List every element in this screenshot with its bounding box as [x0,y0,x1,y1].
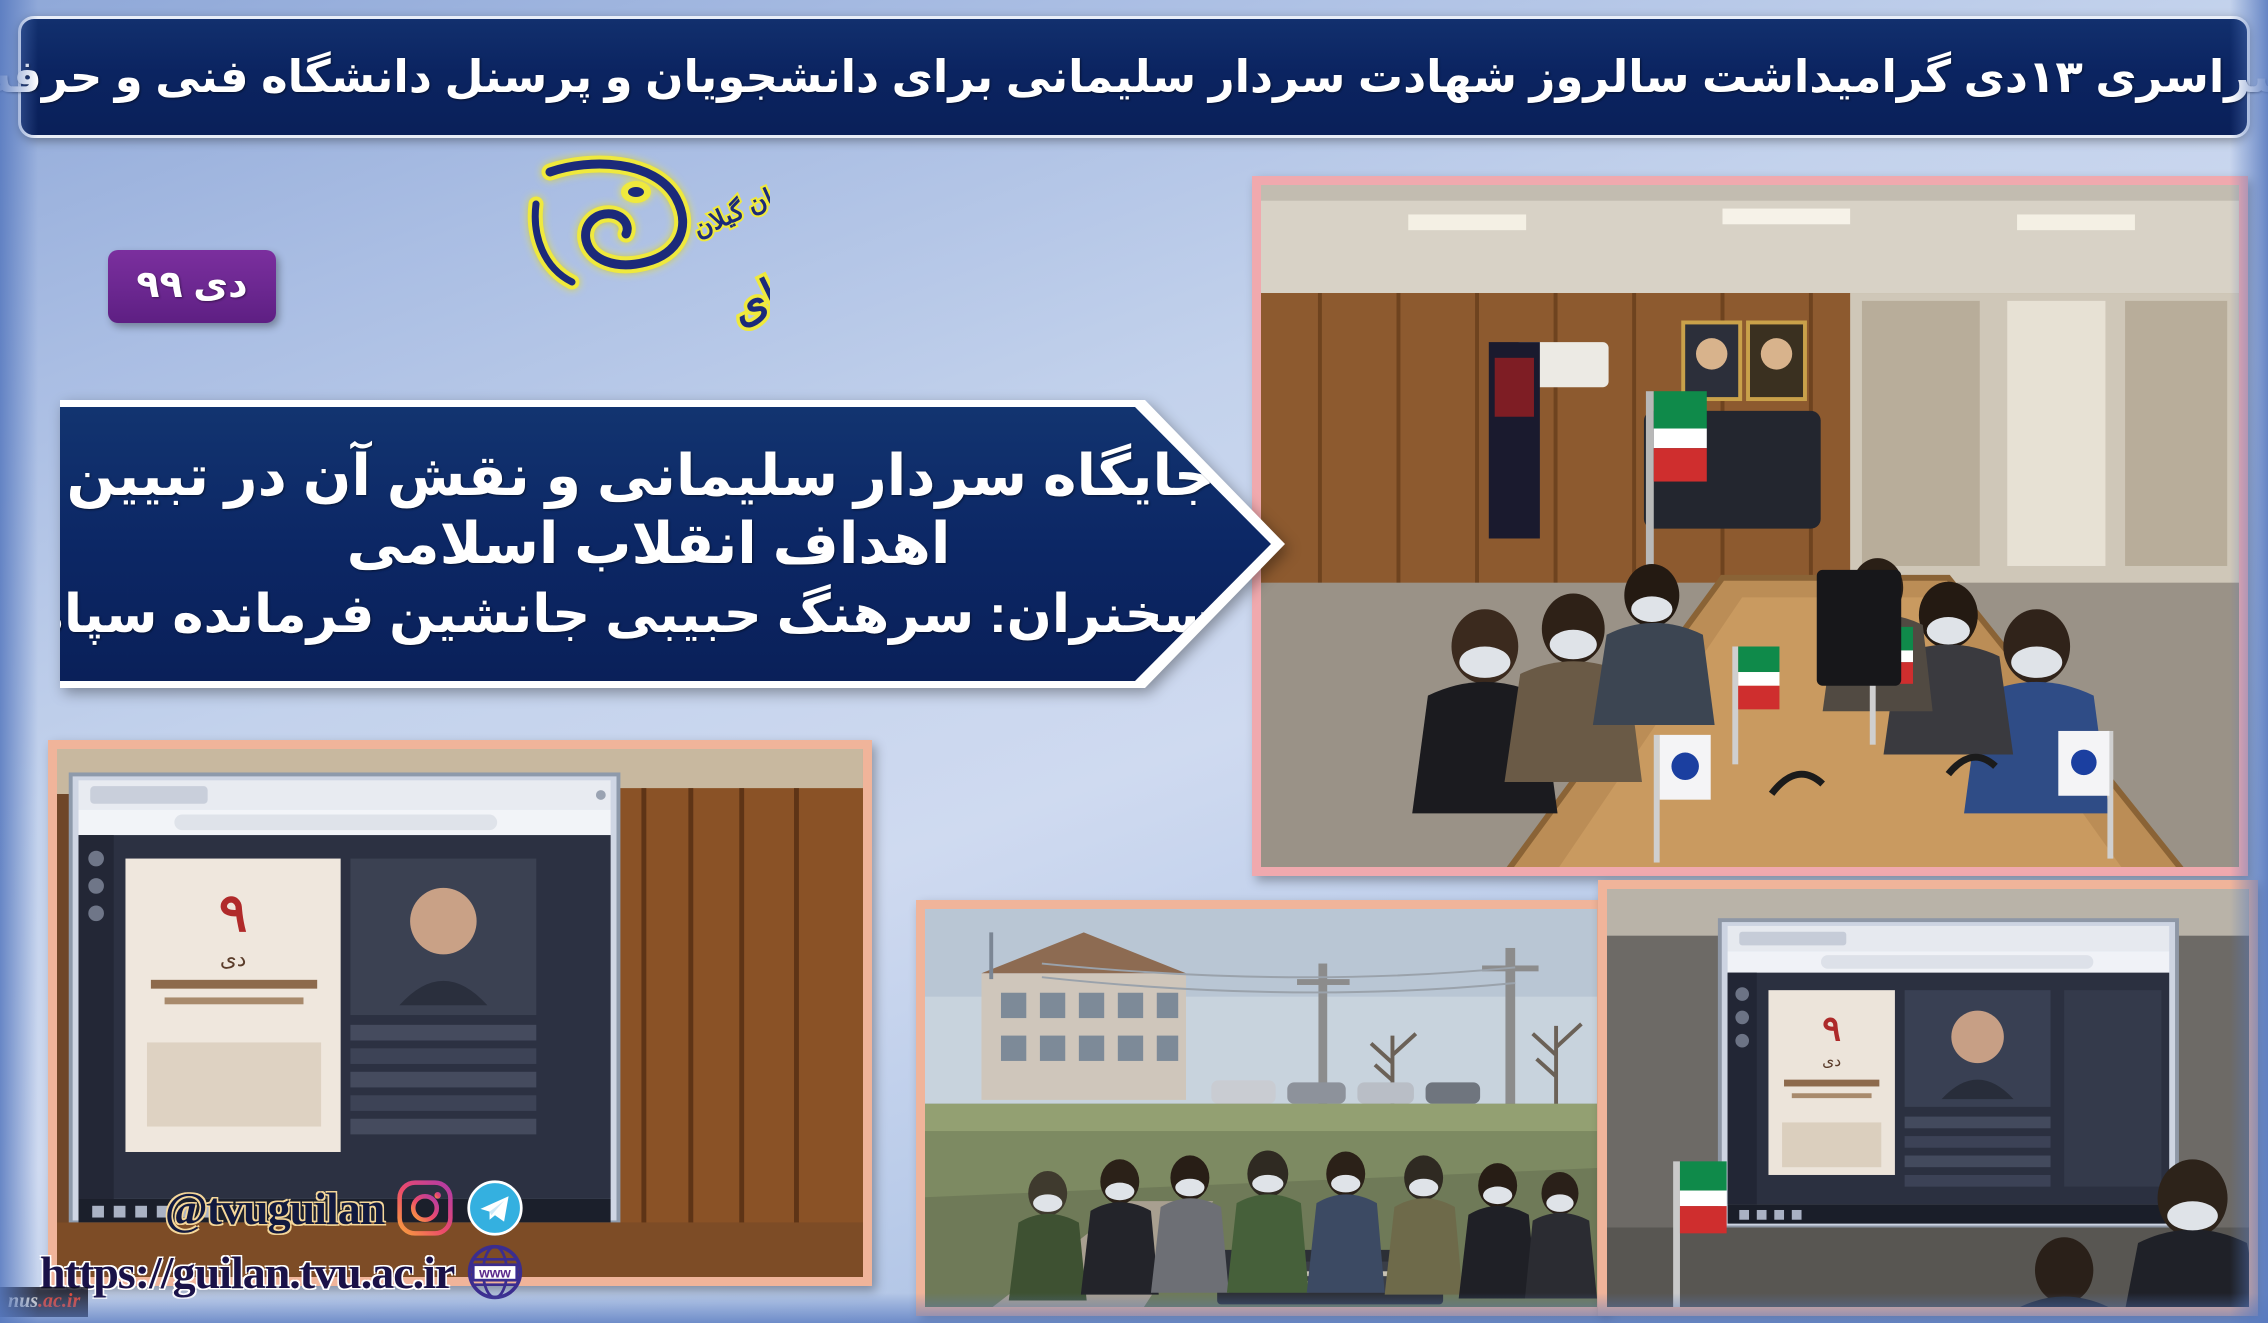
logo-province-text: استان گیلان [688,167,770,243]
telegram-icon[interactable] [466,1179,524,1237]
website-url[interactable]: https://guilan.tvu.ac.ir [40,1246,454,1299]
globe-www-icon[interactable]: www [466,1243,524,1301]
logo-org-text: دانشگاه فنی و حرفه ای [722,150,770,337]
banner-line-1: جایگاه سردار سلیمانی و نقش آن در تبیین [82,442,1215,510]
header: برگزاری وبینار سراسری ۱۳دی گرامیداشت سال… [18,16,2250,138]
date-badge: دی ۹۹ [108,250,276,323]
banner-speaker-line: سخنران: سرهنگ حبیبی جانشین فرمانده سپاه [82,583,1215,647]
svg-text:دی: دی [220,947,246,971]
poster-canvas: برگزاری وبینار سراسری ۱۳دی گرامیداشت سال… [0,0,2268,1323]
watermark-suffix: .ac.ir [38,1290,80,1312]
date-badge-label: دی ۹۹ [136,264,247,306]
social-row-website: www https://guilan.tvu.ac.ir [40,1243,524,1301]
social-footer: @tvuguilan www https://guilan.tvu.ac.ir [40,1179,524,1301]
photo-meeting-room [1252,176,2248,876]
photo-outdoor-ceremony [916,900,1606,1316]
social-handle[interactable]: @tvuguilan [165,1182,384,1235]
main-title-banner: جایگاه سردار سلیمانی و نقش آن در تبیین ا… [60,400,1285,688]
page-title: برگزاری وبینار سراسری ۱۳دی گرامیداشت سال… [0,51,2268,103]
watermark-prefix: nus [8,1290,38,1312]
svg-text:۹: ۹ [1822,1010,1841,1049]
header-bar: برگزاری وبینار سراسری ۱۳دی گرامیداشت سال… [18,16,2250,138]
banner-line-2: اهداف انقلاب اسلامی [82,510,1215,578]
svg-text:www: www [478,1265,511,1280]
university-logo: استان گیلان دانشگاه فنی و حرفه ای [440,150,770,400]
svg-text:دی: دی [1822,1053,1841,1070]
photo-projector-screen-right: ۹ دی [1598,880,2258,1316]
watermark: nus.ac.ir [0,1287,88,1317]
svg-text:۹: ۹ [219,885,247,943]
instagram-icon[interactable] [396,1179,454,1237]
social-row-handle: @tvuguilan [40,1179,524,1237]
